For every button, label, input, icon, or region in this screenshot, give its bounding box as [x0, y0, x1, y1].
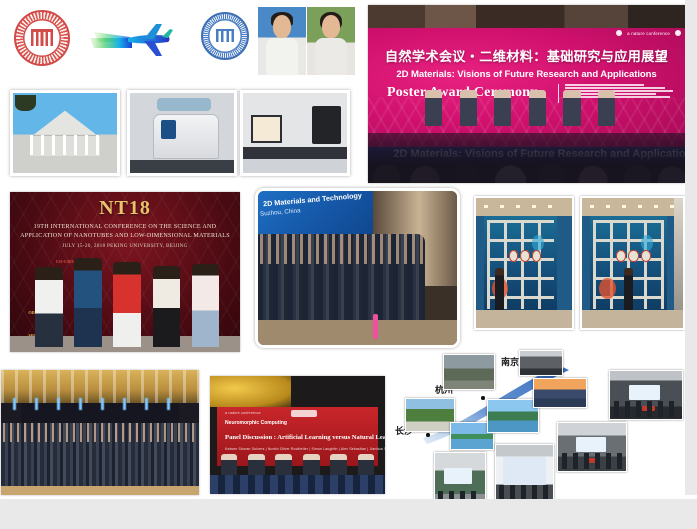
building-roof: [34, 111, 96, 135]
lab-equipment-box: [312, 106, 341, 144]
lab-bench-surface: [243, 147, 347, 158]
tree-foliage: [15, 95, 36, 111]
person-standing: [495, 268, 504, 310]
seated-people: [614, 401, 677, 417]
female-portrait: [306, 6, 356, 76]
nature-logo-mark: [675, 30, 681, 36]
orange-blob: [599, 278, 616, 299]
projector-screen: [576, 437, 606, 451]
stage-led-screen: a nature conference 自然学术会议・二维材料：基础研究与应用展…: [368, 28, 685, 147]
blue-university-seal: [201, 12, 249, 60]
seal-crest-glyph: [216, 29, 234, 42]
seminar-room-photo: [557, 422, 627, 472]
maze-wall-photo-left: [474, 196, 574, 330]
banner-title-english: 2D Materials: Visions of Future Research…: [368, 69, 685, 80]
panel-panelists: Kaiwen Shuran Solvers | Nonlin Oliver Ro…: [225, 447, 385, 451]
banner-title-chinese: 自然学术会议・二维材料：基础研究与应用展望: [368, 46, 685, 65]
lab-floor: [243, 159, 347, 173]
maze-wall-photo-right: [580, 196, 685, 330]
building-columns: [30, 135, 101, 155]
map-dot-hangzhou: [481, 396, 485, 400]
large-conference-group-photo: [1, 370, 199, 495]
seal-building-glyph: [31, 29, 54, 46]
carpet-floor: [1, 486, 199, 495]
group-photo-screen-location: Suzhou, China: [260, 208, 301, 219]
hall-floor: [258, 320, 457, 345]
map-city-nanjing: 南京: [501, 355, 519, 368]
microphone-stand: [373, 314, 378, 339]
portrait-face: [273, 15, 290, 38]
nt18-line-2: APPLICATION OF NANOTUBES AND LOW-DIMENSI…: [19, 233, 231, 239]
red-university-seal: [14, 10, 70, 66]
marble-floor: [582, 310, 683, 328]
ceiling-lights: [582, 198, 683, 216]
map-dot-changsha: [426, 433, 430, 437]
group-photo-screen-title: 2D Materials and Technology: [262, 191, 361, 209]
panel-conference-tag: a nature conference: [225, 411, 261, 415]
portrait-face: [322, 15, 339, 38]
decorative-gold-panel: [210, 376, 291, 407]
portrait-body: [315, 38, 348, 75]
campus-photo: [405, 398, 455, 432]
poster-award-ceremony-photo: a nature conference 自然学术会议・二维材料：基础研究与应用展…: [368, 5, 685, 183]
lab-monitor: [251, 115, 282, 143]
lab-instrument-photo: [127, 90, 237, 176]
lab-bench-photo: [240, 90, 350, 176]
side-column: [674, 198, 683, 328]
wall-emblems: [509, 250, 542, 262]
whiteboard: [444, 468, 472, 484]
ceiling-lights: [476, 198, 572, 216]
projector-screen: [629, 385, 661, 399]
city-skyline-photo: [533, 378, 587, 408]
instrument-base: [130, 160, 234, 173]
male-portrait: [257, 6, 307, 76]
ceiling-strip: [368, 5, 685, 28]
nt18-logo-text: NT18: [10, 197, 240, 220]
blue-blob: [532, 235, 544, 250]
wall-emblems: [616, 250, 650, 262]
instrument-display: [161, 120, 176, 139]
panel-university-logo: [291, 410, 317, 417]
attendee-crowd: [1, 423, 199, 488]
person-standing: [624, 268, 633, 310]
nt18-line-3: JULY 15-20, 2018 PEKING UNIVERSITY, BEIJ…: [19, 243, 231, 249]
presentation-slide: [503, 457, 546, 485]
banner-sponsor-logos: a nature conference: [616, 30, 681, 36]
blue-blob: [641, 235, 653, 250]
slide-right-margin: [685, 0, 697, 495]
gradient-airplane-logo: [88, 18, 174, 64]
stage-award-recipients: [425, 90, 615, 126]
panel-topic: Neuromorphic Computing: [225, 420, 287, 426]
instrument-hood: [157, 98, 211, 111]
2d-materials-group-photo: 2D Materials and Technology Suzhou, Chin…: [255, 188, 460, 348]
panel-title: Panel Discussion : Artificial Learning v…: [225, 434, 385, 441]
nt18-group-people: [35, 254, 219, 347]
nt18-line-1: 19TH INTERNATIONAL CONFERENCE ON THE SCI…: [19, 224, 231, 230]
university-logo-mark: [616, 30, 622, 36]
marble-floor: [476, 310, 572, 328]
banner-audience: [368, 133, 685, 183]
banner-sponsor-text: a nature conference: [627, 31, 670, 36]
panel-discussion-photo: a nature conference Neuromorphic Computi…: [210, 376, 385, 494]
truss-lights: [13, 398, 187, 411]
university-building-photo: [10, 90, 120, 176]
portrait-body: [266, 38, 299, 75]
west-lake-photo: [487, 399, 539, 433]
panelist-seats: [221, 454, 375, 478]
meeting-room-photo: [609, 370, 683, 420]
front-row-audience: [210, 475, 385, 494]
group-attendees: [258, 234, 425, 323]
slide-canvas: a nature conference 自然学术会议・二维材料：基础研究与应用展…: [0, 0, 697, 529]
nt18-conference-photo: NT18 19TH INTERNATIONAL CONFERENCE ON TH…: [10, 192, 240, 352]
slide-bottom-margin: [0, 499, 697, 529]
office-top-photo: [519, 350, 563, 376]
seated-people: [562, 453, 622, 469]
